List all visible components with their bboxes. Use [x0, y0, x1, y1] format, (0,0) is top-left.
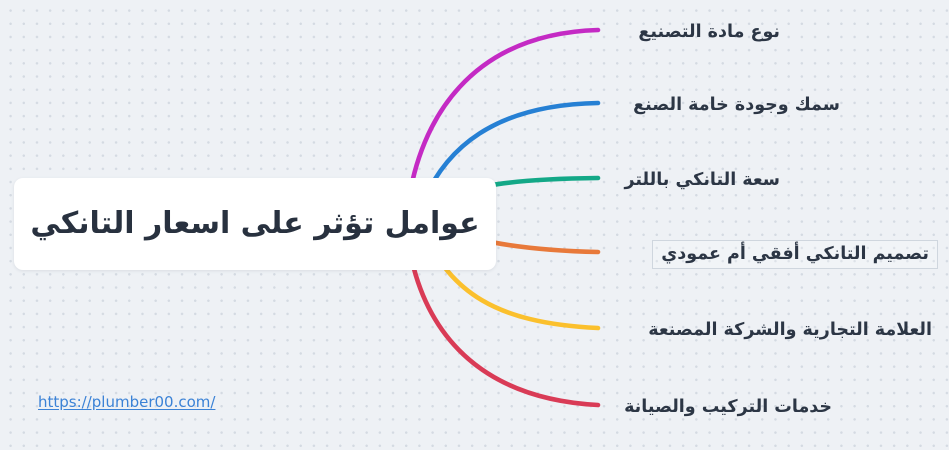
branch-label-1: نوع مادة التصنيع — [632, 19, 786, 46]
branch-node-1[interactable]: نوع مادة التصنيع — [632, 19, 786, 46]
branch-node-6[interactable]: خدمات التركيب والصيانة — [618, 394, 838, 421]
branch-label-6: خدمات التركيب والصيانة — [618, 394, 838, 421]
mindmap-canvas: عوامل تؤثر على اسعار التانكي نوع مادة ال… — [0, 0, 949, 450]
branch-label-3: سعة التانكي باللتر — [618, 167, 786, 194]
branch-node-4[interactable]: تصميم التانكي أفقي أم عمودي — [652, 240, 938, 269]
branch-label-5: العلامة التجارية والشركة المصنعة — [642, 317, 938, 344]
branch-label-4: تصميم التانكي أفقي أم عمودي — [652, 240, 938, 269]
branch-node-5[interactable]: العلامة التجارية والشركة المصنعة — [642, 317, 938, 344]
branch-label-2: سمك وجودة خامة الصنع — [627, 92, 846, 119]
branch-node-3[interactable]: سعة التانكي باللتر — [618, 167, 786, 194]
central-node-label: عوامل تؤثر على اسعار التانكي — [30, 206, 479, 243]
central-node[interactable]: عوامل تؤثر على اسعار التانكي — [14, 178, 496, 270]
branch-node-2[interactable]: سمك وجودة خامة الصنع — [627, 92, 846, 119]
source-link[interactable]: https://plumber00.com/ — [38, 393, 215, 411]
